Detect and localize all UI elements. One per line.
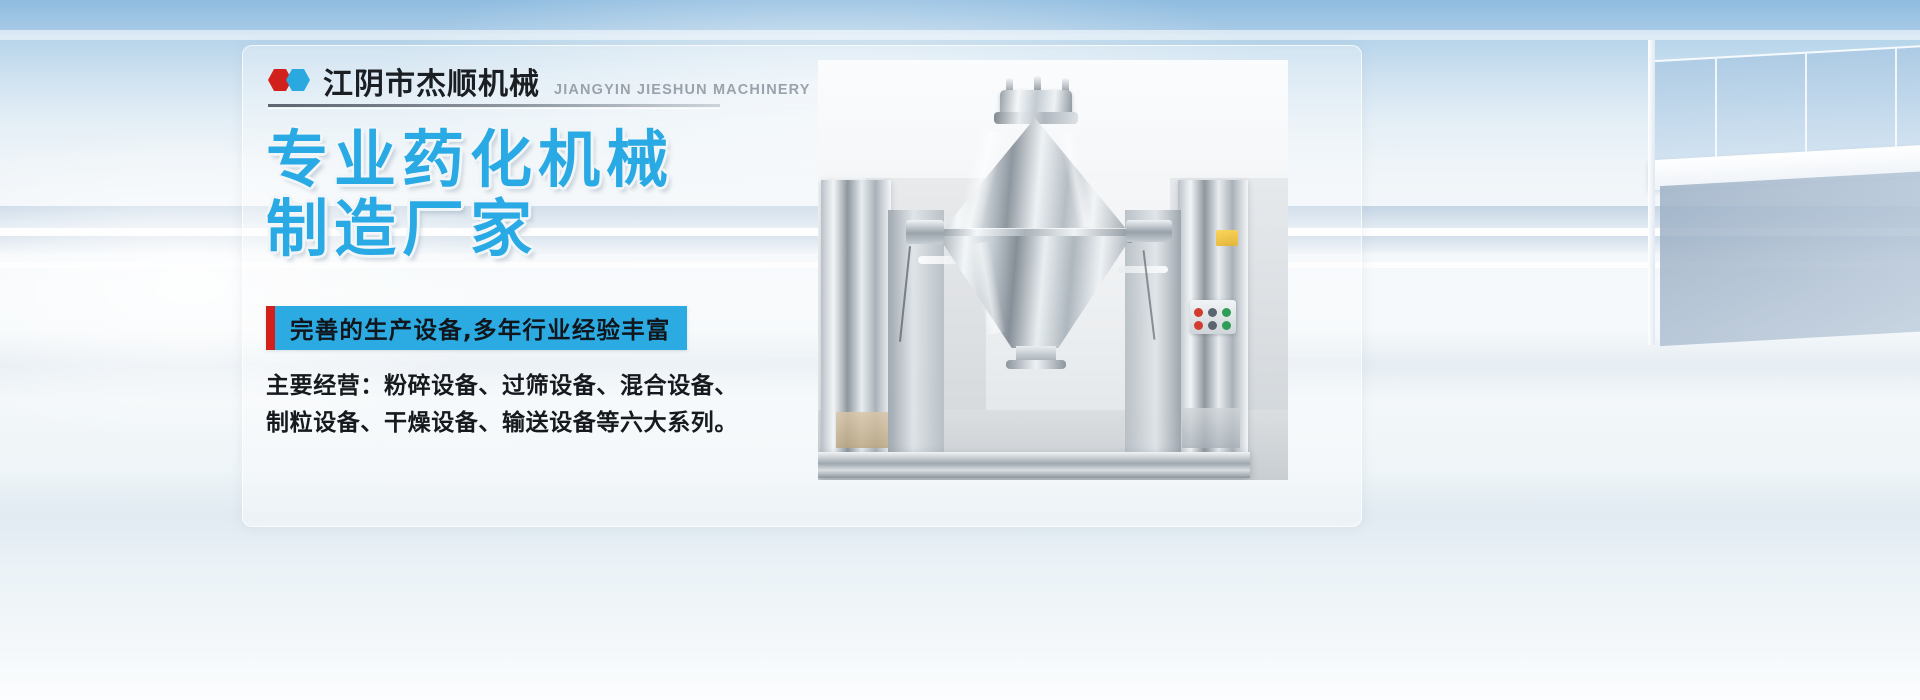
control-button-icon: [1208, 308, 1217, 317]
logo-mark: [268, 69, 316, 91]
crate: [836, 412, 888, 448]
slogan-accent: [266, 306, 275, 350]
trunnion-right: [1126, 220, 1172, 242]
description-line-2: 制粒设备、干燥设备、输送设备等六大系列。: [266, 405, 786, 442]
building-wall-shade: [1660, 170, 1920, 346]
description: 主要经营：粉碎设备、过筛设备、混合设备、 制粒设备、干燥设备、输送设备等六大系列…: [266, 368, 786, 443]
banner-stage: 江阴市杰顺机械 JIANGYIN JIESHUN MACHINERY 专业药化机…: [0, 0, 1920, 700]
building-post: [1648, 40, 1655, 345]
trunnion-left: [906, 220, 944, 244]
ceiling-lamp-icon: [1118, 266, 1168, 273]
machine-base: [818, 452, 1250, 478]
control-button-icon: [1222, 321, 1231, 330]
crate: [1182, 408, 1240, 448]
logo[interactable]: 江阴市杰顺机械 JIANGYIN JIESHUN MACHINERY: [268, 70, 811, 100]
slogan-bar: 完善的生产设备,多年行业经验丰富: [266, 306, 687, 350]
description-line-1: 主要经营：粉碎设备、过筛设备、混合设备、: [266, 368, 786, 405]
control-button-icon: [1194, 308, 1203, 317]
headline-line-1: 专业药化机械: [266, 128, 826, 191]
hexagon-blue-icon: [286, 69, 310, 91]
control-button-icon: [1194, 321, 1203, 330]
product-photo: [818, 60, 1288, 480]
logo-divider: [268, 104, 720, 107]
machine-frame-inner-left: [888, 210, 944, 460]
headline-line-2: 制造厂家: [266, 197, 826, 260]
logo-divider-highlight: [268, 108, 720, 109]
control-button-icon: [1208, 321, 1217, 330]
logo-company-name-cn: 江阴市杰顺机械: [323, 70, 540, 100]
headline: 专业药化机械 制造厂家: [266, 128, 826, 260]
control-button-icon: [1222, 308, 1231, 317]
discharge-valve: [1006, 360, 1066, 369]
slogan-text: 完善的生产设备,多年行业经验丰富: [275, 311, 687, 345]
logo-company-name-en: JIANGYIN JIESHUN MACHINERY: [554, 82, 811, 98]
warning-sign-icon: [1216, 230, 1238, 246]
